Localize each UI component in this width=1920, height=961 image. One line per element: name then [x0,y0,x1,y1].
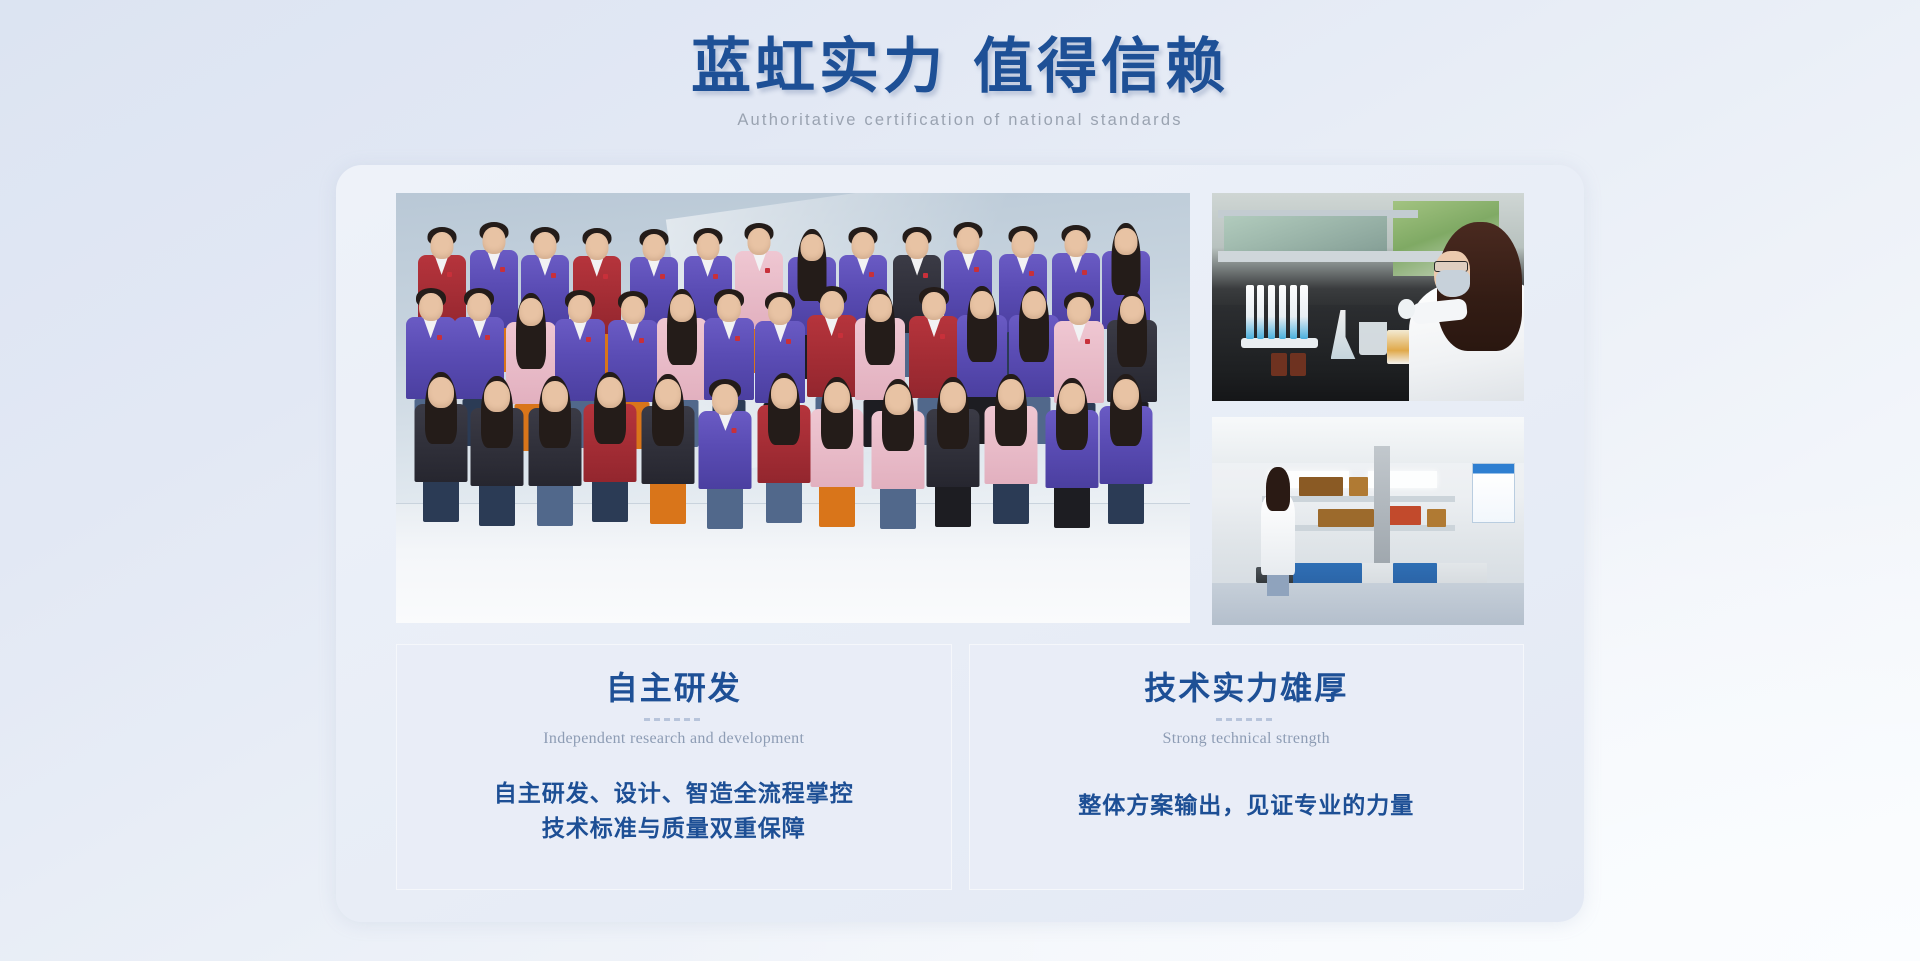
person-legs [819,482,855,527]
pipette [1300,285,1307,339]
pipette-rack [1246,285,1312,339]
company-badge-icon [869,272,874,277]
dashed-divider-icon [644,718,704,721]
feature-card-body-line2: 技术标准与质量双重保障 [494,811,854,847]
person-head [998,379,1024,410]
pipette-rack-base [1241,338,1318,349]
person-head [1067,297,1091,325]
feature-card-title: 自主研发 [606,666,742,711]
page-title-part1: 蓝虹实力 [691,34,947,100]
person-head [712,384,738,415]
person-head [1064,230,1087,257]
company-badge-icon [639,338,644,343]
group-photo-person [869,379,927,529]
team-group-photo [396,193,1190,623]
group-photo-person [639,374,697,524]
person-legs [479,481,515,526]
page-root: 蓝虹实力值得信赖 Authoritative certification of … [0,0,1920,961]
reagent-bottles-row-5 [1427,509,1446,528]
company-badge-icon [940,334,945,339]
lab-ceiling [1212,417,1524,463]
person-head [655,379,681,410]
person-legs [423,477,459,522]
reagent-bottle-1 [1271,353,1287,376]
person-head [717,294,741,322]
group-photo-person [1043,378,1101,528]
pipette [1279,285,1286,339]
feature-card-english: Independent research and development [543,730,804,748]
company-badge-icon [838,333,843,338]
company-badge-icon [786,339,791,344]
person-head [670,294,694,322]
person-head [642,234,665,261]
safety-notice-poster [1472,463,1515,523]
reagent-bottle-2 [1290,353,1306,376]
gloved-hand [1398,299,1414,319]
person-head [696,233,719,260]
person-head [419,293,443,321]
gallery [396,193,1524,625]
person-head [771,378,797,409]
person-uniform [699,411,752,489]
person-head [768,297,792,325]
beaker [1359,322,1387,355]
company-badge-icon [485,335,490,340]
pipette [1290,285,1297,339]
person-head [483,227,506,254]
person-head [1059,383,1085,414]
content-panel: 自主研发 Independent research and developmen… [336,165,1584,922]
reagent-bottles-row-2 [1349,477,1368,496]
company-badge-icon [923,273,928,278]
person-legs [766,478,802,523]
person-head [970,291,994,319]
page-subtitle: Authoritative certification of national … [0,111,1920,130]
feature-card-technical-strength: 技术实力雄厚 Strong technical strength 整体方案输出，… [969,644,1525,890]
reagent-bottles-row-1 [1299,477,1343,496]
feature-card-body: 整体方案输出，见证专业的力量 [1078,788,1414,824]
company-badge-icon [586,337,591,342]
person-head [1113,379,1139,410]
lab-photo-pipettes [1212,193,1524,401]
person-legs [707,484,743,529]
person-head [1120,296,1144,324]
group-photo-person [982,374,1040,524]
person-head [428,377,454,408]
page-header: 蓝虹实力值得信赖 Authoritative certification of … [0,30,1920,130]
feature-card-independent-rd: 自主研发 Independent research and developmen… [396,644,952,890]
feature-card-body-line1: 整体方案输出，见证专业的力量 [1078,788,1414,824]
group-photo-person [412,372,470,522]
feature-card-body: 自主研发、设计、智造全流程掌控 技术标准与质量双重保障 [494,776,854,847]
person-legs [650,479,686,524]
company-badge-icon [765,268,770,273]
dashed-divider-icon [1216,718,1276,721]
company-badge-icon [732,428,737,433]
feature-card-title: 技术实力雄厚 [1144,666,1348,711]
person-head [906,232,929,259]
feature-cards: 自主研发 Independent research and developmen… [396,644,1524,890]
company-badge-icon [1029,271,1034,276]
person-head [868,294,892,322]
person-head [597,377,623,408]
person-head [533,232,556,259]
person-legs [935,482,971,527]
person-head [852,232,875,259]
company-badge-icon [551,273,556,278]
person-legs [537,481,573,526]
lab-photo-overview [1212,417,1524,625]
feature-card-body-line1: 自主研发、设计、智造全流程掌控 [494,776,854,812]
lab-glass-panel [1224,216,1386,253]
company-badge-icon [447,272,452,277]
group-photo-person [755,373,813,523]
pipette [1257,285,1264,339]
person-head [957,227,980,254]
pipette [1246,285,1253,339]
person-head [621,296,645,324]
lab-researcher [1259,467,1300,596]
person-head [824,382,850,413]
person-head [484,381,510,412]
page-title-part2: 值得信赖 [973,30,1229,105]
person-head [519,298,543,326]
group-photo-person [1097,374,1155,524]
person-head [820,291,844,319]
reagent-bottles-row-3 [1318,509,1374,528]
lab-technician [1393,222,1524,401]
group-photo-person [526,376,584,526]
person-head [748,228,771,255]
group-photo-person [924,377,982,527]
person-head [885,384,911,415]
company-badge-icon [500,267,505,272]
person-head [1011,231,1034,258]
photo-crowd [396,225,1190,525]
person-head [801,234,824,261]
person-head [940,382,966,413]
group-photo-person [468,376,526,526]
pipette [1268,285,1275,339]
person-head [467,293,491,321]
company-badge-icon [735,336,740,341]
group-photo-person [808,377,866,527]
company-badge-icon [660,274,665,279]
person-legs [993,479,1029,524]
page-title: 蓝虹实力值得信赖 [0,30,1920,105]
company-badge-icon [713,274,718,279]
researcher-hair [1266,467,1290,511]
company-badge-icon [1082,270,1087,275]
person-legs [592,477,628,522]
face-mask [1436,270,1470,297]
person-head [585,233,608,260]
group-photo-person [696,379,754,529]
person-legs [1108,479,1144,524]
group-photo-person [581,372,639,522]
person-head [430,232,453,259]
company-badge-icon [974,267,979,272]
person-head [922,292,946,320]
company-badge-icon [1085,339,1090,344]
person-head [1114,228,1137,255]
person-head [568,295,592,323]
person-legs [880,484,916,529]
feature-card-english: Strong technical strength [1163,730,1330,748]
company-badge-icon [437,335,442,340]
person-head [542,381,568,412]
person-head [1022,291,1046,319]
person-legs [1054,483,1090,528]
company-badge-icon [603,274,608,279]
